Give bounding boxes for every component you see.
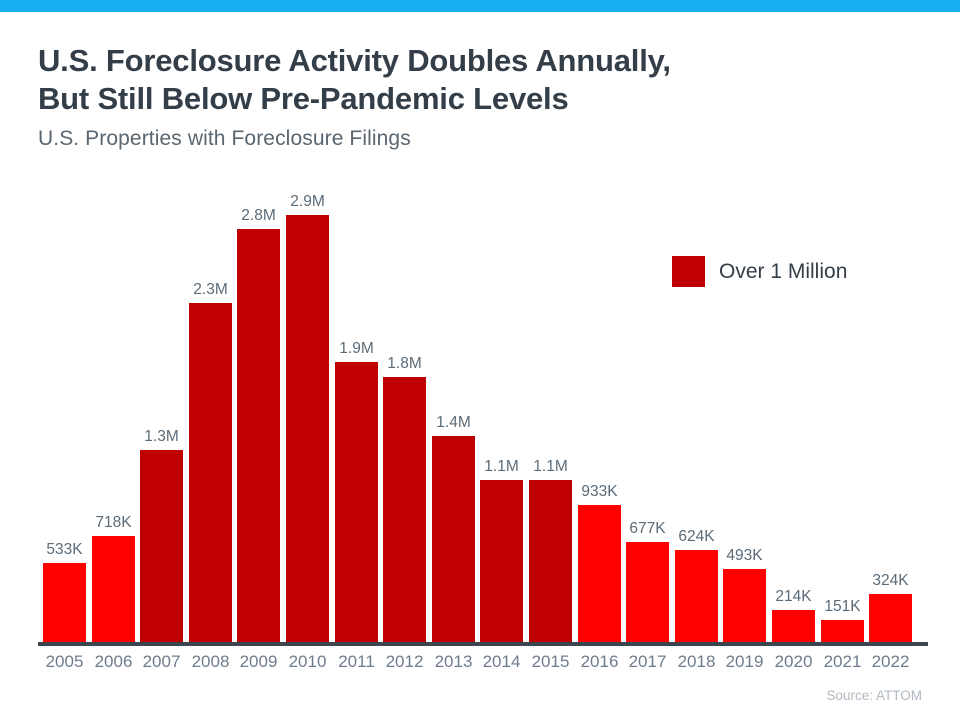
bar-2013: 1.4M — [432, 200, 475, 642]
bar-2020: 214K — [772, 200, 815, 642]
bar-value-label-2019: 493K — [726, 548, 762, 564]
bar-value-label-2020: 214K — [775, 589, 811, 605]
bar-value-label-2017: 677K — [629, 521, 665, 537]
bar-rect-2022 — [869, 594, 912, 642]
x-tick-2020: 2020 — [772, 652, 815, 672]
bar-2014: 1.1M — [480, 200, 523, 642]
bar-value-label-2008: 2.3M — [193, 282, 227, 298]
bar-2022: 324K — [869, 200, 912, 642]
bar-value-label-2018: 624K — [678, 529, 714, 545]
bar-value-label-2014: 1.1M — [484, 459, 518, 475]
bar-value-label-2005: 533K — [46, 542, 82, 558]
bar-value-label-2021: 151K — [824, 599, 860, 615]
top-accent-bar — [0, 0, 960, 12]
bar-value-label-2011: 1.9M — [339, 341, 373, 357]
bar-value-label-2006: 718K — [95, 515, 131, 531]
bar-value-label-2015: 1.1M — [533, 459, 567, 475]
bar-rect-2021 — [821, 620, 864, 642]
bar-rect-2020 — [772, 610, 815, 642]
x-tick-2013: 2013 — [432, 652, 475, 672]
bar-2005: 533K — [43, 200, 86, 642]
page-title: U.S. Foreclosure Activity Doubles Annual… — [38, 42, 938, 118]
bar-value-label-2007: 1.3M — [144, 429, 178, 445]
bar-2016: 933K — [578, 200, 621, 642]
bar-value-label-2012: 1.8M — [387, 356, 421, 372]
bar-rect-2019 — [723, 569, 766, 642]
bar-rect-2013 — [432, 436, 475, 642]
headline-block: U.S. Foreclosure Activity Doubles Annual… — [38, 42, 938, 151]
infographic-page: U.S. Foreclosure Activity Doubles Annual… — [0, 0, 960, 720]
x-axis-tick-labels: 2005200620072008200920102011201220132014… — [43, 652, 923, 678]
bar-2021: 151K — [821, 200, 864, 642]
bar-2015: 1.1M — [529, 200, 572, 642]
bar-rect-2014 — [480, 480, 523, 642]
bar-2010: 2.9M — [286, 200, 329, 642]
bar-value-label-2016: 933K — [581, 484, 617, 500]
bar-rect-2012 — [383, 377, 426, 642]
x-tick-2016: 2016 — [578, 652, 621, 672]
x-tick-2008: 2008 — [189, 652, 232, 672]
bar-rect-2005 — [43, 563, 86, 642]
x-tick-2015: 2015 — [529, 652, 572, 672]
bar-rect-2007 — [140, 450, 183, 642]
foreclosure-bar-chart: Over 1 Million 533K718K1.3M2.3M2.8M2.9M1… — [0, 200, 960, 720]
x-axis-line — [38, 642, 928, 646]
x-tick-2005: 2005 — [43, 652, 86, 672]
x-tick-2014: 2014 — [480, 652, 523, 672]
bar-2012: 1.8M — [383, 200, 426, 642]
bar-rect-2017 — [626, 542, 669, 642]
bar-value-label-2009: 2.8M — [241, 208, 275, 224]
bar-rect-2010 — [286, 215, 329, 642]
x-tick-2021: 2021 — [821, 652, 864, 672]
x-tick-2012: 2012 — [383, 652, 426, 672]
page-subtitle: U.S. Properties with Foreclosure Filings — [38, 127, 938, 151]
bar-2017: 677K — [626, 200, 669, 642]
bar-rect-2015 — [529, 480, 572, 642]
bar-rect-2009 — [237, 229, 280, 642]
bar-2009: 2.8M — [237, 200, 280, 642]
x-tick-2019: 2019 — [723, 652, 766, 672]
bar-value-label-2022: 324K — [872, 573, 908, 589]
bar-rect-2008 — [189, 303, 232, 642]
source-attribution: Source: ATTOM — [826, 688, 922, 703]
bar-value-label-2013: 1.4M — [436, 415, 470, 431]
bar-2007: 1.3M — [140, 200, 183, 642]
plot-area: 533K718K1.3M2.3M2.8M2.9M1.9M1.8M1.4M1.1M… — [43, 200, 923, 642]
bar-2006: 718K — [92, 200, 135, 642]
x-tick-2007: 2007 — [140, 652, 183, 672]
bar-rect-2016 — [578, 505, 621, 642]
x-tick-2009: 2009 — [237, 652, 280, 672]
bar-rect-2006 — [92, 536, 135, 642]
bar-2011: 1.9M — [335, 200, 378, 642]
bar-2018: 624K — [675, 200, 718, 642]
bar-rect-2011 — [335, 362, 378, 642]
x-tick-2022: 2022 — [869, 652, 912, 672]
bar-rect-2018 — [675, 550, 718, 642]
bar-value-label-2010: 2.9M — [290, 194, 324, 210]
x-tick-2010: 2010 — [286, 652, 329, 672]
bar-2019: 493K — [723, 200, 766, 642]
x-tick-2017: 2017 — [626, 652, 669, 672]
bar-2008: 2.3M — [189, 200, 232, 642]
x-tick-2006: 2006 — [92, 652, 135, 672]
x-tick-2018: 2018 — [675, 652, 718, 672]
x-tick-2011: 2011 — [335, 652, 378, 672]
